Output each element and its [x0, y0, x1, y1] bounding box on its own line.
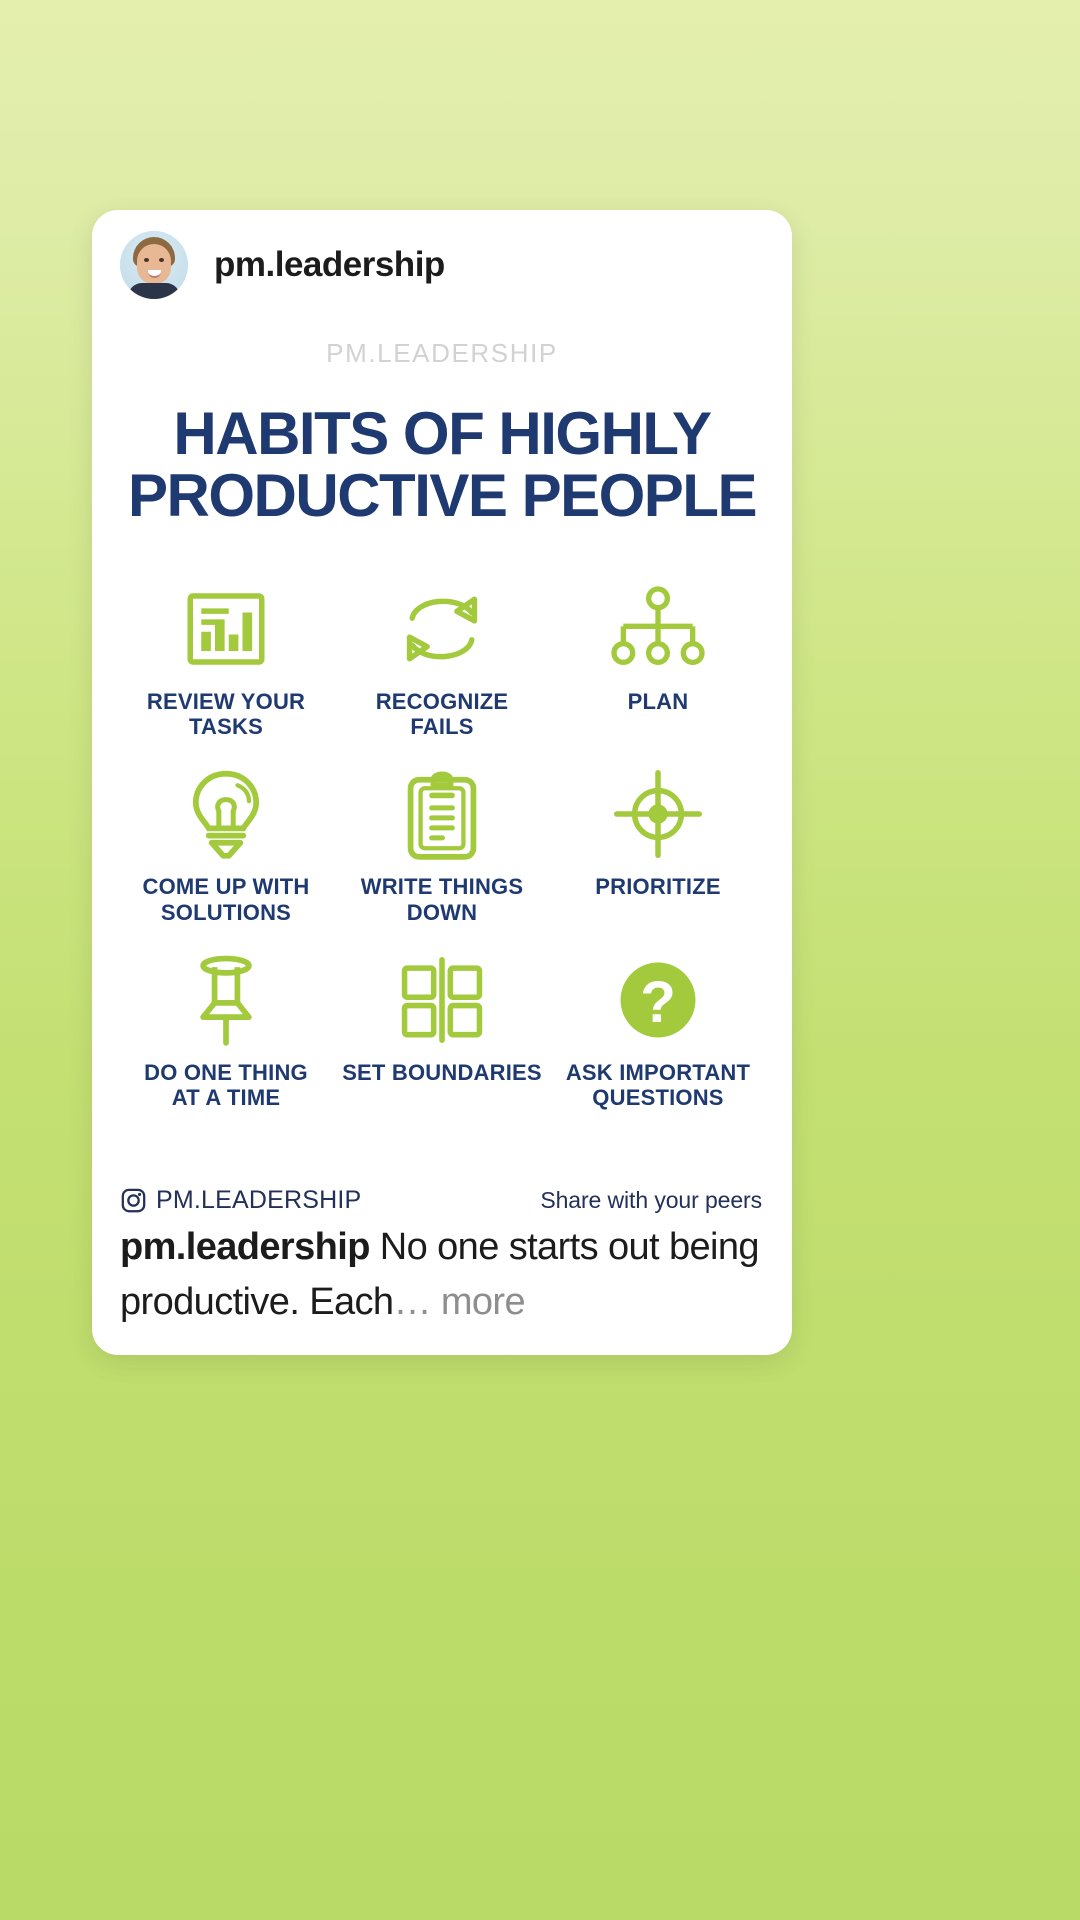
- habit-label: PRIORITIZE: [595, 874, 720, 900]
- avatar-face: [137, 244, 171, 284]
- avatar[interactable]: [120, 231, 188, 299]
- post-header: pm.leadership: [92, 210, 792, 320]
- avatar-eye-right: [159, 258, 164, 262]
- caption-more-button[interactable]: more: [441, 1281, 525, 1323]
- footer-handle[interactable]: PM.LEADERSHIP: [120, 1186, 361, 1215]
- lightbulb-icon: [185, 768, 267, 860]
- org-chart-icon: [610, 583, 706, 675]
- headline-line-2: PRODUCTIVE PEOPLE: [114, 465, 770, 527]
- four-squares-divider-icon: [399, 954, 485, 1046]
- habit-item: RECOGNIZE FAILS: [334, 583, 550, 740]
- instagram-icon: [120, 1187, 147, 1214]
- caption-ellipsis: …: [393, 1281, 440, 1323]
- habit-label: DO ONE THING AT A TIME: [144, 1060, 308, 1111]
- instagram-post-card: pm.leadership PM.LEADERSHIP HABITS OF HI…: [92, 210, 792, 1355]
- habit-item: COME UP WITH SOLUTIONS: [118, 768, 334, 925]
- habit-label: SET BOUNDARIES: [342, 1060, 542, 1086]
- habit-label: PLAN: [628, 689, 689, 715]
- avatar-shirt: [128, 283, 180, 299]
- post-graphic[interactable]: PM.LEADERSHIP HABITS OF HIGHLY PRODUCTIV…: [92, 320, 792, 1245]
- clipboard-icon: [402, 768, 482, 860]
- habit-item: DO ONE THING AT A TIME: [118, 954, 334, 1111]
- footer-cta-text: Share with your peers: [540, 1187, 762, 1214]
- habit-item: REVIEW YOUR TASKS: [118, 583, 334, 740]
- headline-line-1: HABITS OF HIGHLY: [114, 403, 770, 465]
- habit-label: RECOGNIZE FAILS: [376, 689, 509, 740]
- caption-username[interactable]: pm.leadership: [120, 1226, 370, 1268]
- watermark-text: PM.LEADERSHIP: [92, 338, 792, 369]
- habit-label: REVIEW YOUR TASKS: [147, 689, 305, 740]
- habit-grid: REVIEW YOUR TASKS RECOGNIZE FAILS: [92, 583, 792, 1111]
- refresh-cycle-icon: [396, 583, 488, 675]
- habit-item: PLAN: [550, 583, 766, 740]
- habit-item: ? ASK IMPORTANT QUESTIONS: [550, 954, 766, 1111]
- habit-label: ASK IMPORTANT QUESTIONS: [566, 1060, 750, 1111]
- habit-label: WRITE THINGS DOWN: [361, 874, 524, 925]
- habit-label: COME UP WITH SOLUTIONS: [143, 874, 310, 925]
- habit-item: SET BOUNDARIES: [334, 954, 550, 1111]
- account-name[interactable]: pm.leadership: [214, 245, 445, 285]
- svg-text:?: ?: [640, 970, 676, 1035]
- footer-handle-label: PM.LEADERSHIP: [156, 1186, 361, 1215]
- pushpin-icon: [186, 954, 266, 1046]
- avatar-eye-left: [144, 258, 149, 262]
- bar-chart-icon: [182, 583, 270, 675]
- habit-item: WRITE THINGS DOWN: [334, 768, 550, 925]
- page-title: HABITS OF HIGHLY PRODUCTIVE PEOPLE: [92, 403, 792, 527]
- question-mark-circle-icon: ?: [615, 954, 701, 1046]
- crosshair-target-icon: [610, 768, 706, 860]
- habit-item: PRIORITIZE: [550, 768, 766, 925]
- post-caption: pm.leadership No one starts out being pr…: [92, 1220, 792, 1355]
